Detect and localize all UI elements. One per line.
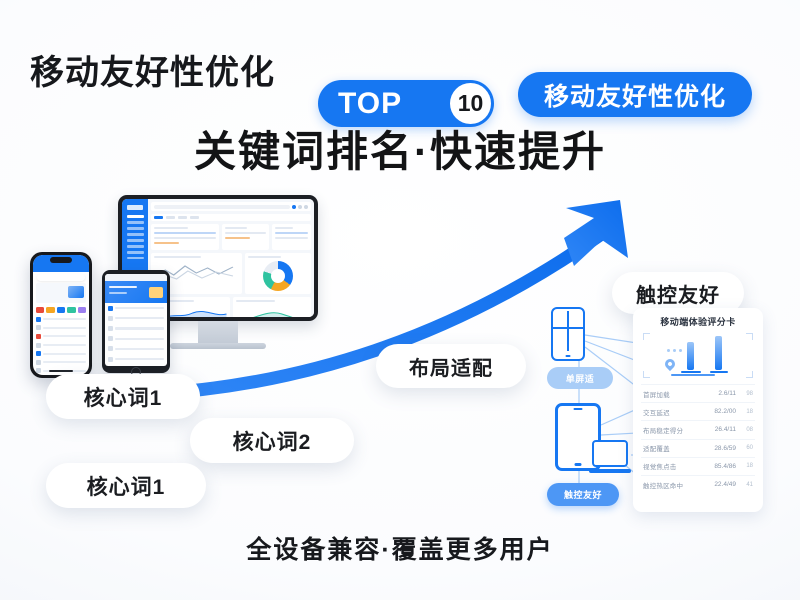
dashboard-body — [148, 199, 314, 317]
phone-search-bar — [37, 274, 85, 281]
callout-layout-adaptation[interactable]: 布局适配 — [376, 344, 526, 388]
monitor-stand — [198, 321, 238, 343]
table-row: 适配覆盖 28.6/59 60 — [641, 439, 755, 457]
row-label: 交互延迟 — [643, 407, 708, 417]
table-row: 首屏加载 2.6/11 98 — [641, 384, 755, 402]
header-blue-pill: 移动友好性优化 — [518, 72, 752, 117]
footer-tagline: 全设备兼容·覆盖更多用户 — [0, 530, 800, 566]
table-row: 视觉焦点击 85.4/86 18 — [641, 457, 755, 475]
row-score: 98 — [740, 391, 753, 397]
row-score: 41 — [740, 482, 753, 488]
row-value: 85.4/86 — [712, 463, 736, 470]
score-card-mini-chart — [641, 333, 755, 378]
score-card: 移动端体验评分卡 首屏加载 2.6/11 98 交互延迟 82.2/00 — [633, 308, 763, 512]
table-row: 触控热区命中 22.4/49 41 — [641, 475, 755, 493]
diagram-phone-small — [551, 307, 585, 361]
phone-notch — [50, 257, 72, 263]
tablet-mockup — [102, 270, 170, 373]
diagram-laptop — [589, 440, 631, 476]
keyword-pill-3[interactable]: 核心词1 — [46, 463, 206, 508]
top-badge-word: TOP — [338, 87, 402, 121]
location-pin-icon — [663, 357, 677, 371]
row-value: 28.6/59 — [712, 445, 736, 452]
row-score: 60 — [740, 445, 753, 451]
row-value: 82.2/00 — [712, 408, 736, 415]
donut-chart — [263, 261, 293, 291]
row-value: 2.6/11 — [712, 390, 736, 397]
row-score: 18 — [740, 463, 753, 469]
row-label: 布局稳定得分 — [643, 425, 708, 435]
diagram-pill-touch-friendly: 触控友好 — [547, 483, 619, 506]
diagram-pill-single-screen: 单屏适 — [547, 367, 613, 389]
row-label: 首屏加载 — [643, 389, 708, 399]
row-label: 适配覆盖 — [643, 443, 708, 453]
keyword-pill-2[interactable]: 核心词2 — [190, 418, 354, 463]
table-row: 交互延迟 82.2/00 18 — [641, 402, 755, 420]
row-score: 18 — [740, 409, 753, 415]
mobile-experience-diagram: 单屏适 触控友好 移动端体验评分卡 首屏加载 — [545, 305, 763, 515]
row-label: 视觉焦点击 — [643, 461, 708, 471]
page-title: 关键词排名·快速提升 — [0, 118, 800, 179]
header-row: 移动友好性优化 TOP 10 移动友好性优化 — [0, 22, 800, 92]
header-kicker: 移动友好性优化 — [30, 45, 275, 94]
monitor-base — [170, 343, 266, 349]
table-row: 布局稳定得分 26.4/11 08 — [641, 420, 755, 438]
row-label: 触控热区命中 — [643, 480, 708, 490]
keyword-pill-1[interactable]: 核心词1 — [46, 374, 200, 419]
score-card-title: 移动端体验评分卡 — [641, 315, 755, 328]
phone-mockup — [30, 252, 92, 378]
row-value: 22.4/49 — [712, 481, 736, 488]
row-value: 26.4/11 — [712, 426, 736, 433]
phone-home-indicator — [49, 370, 73, 372]
poster-canvas: 移动友好性优化 TOP 10 移动友好性优化 关键词排名·快速提升 — [0, 0, 800, 600]
row-score: 08 — [740, 427, 753, 433]
